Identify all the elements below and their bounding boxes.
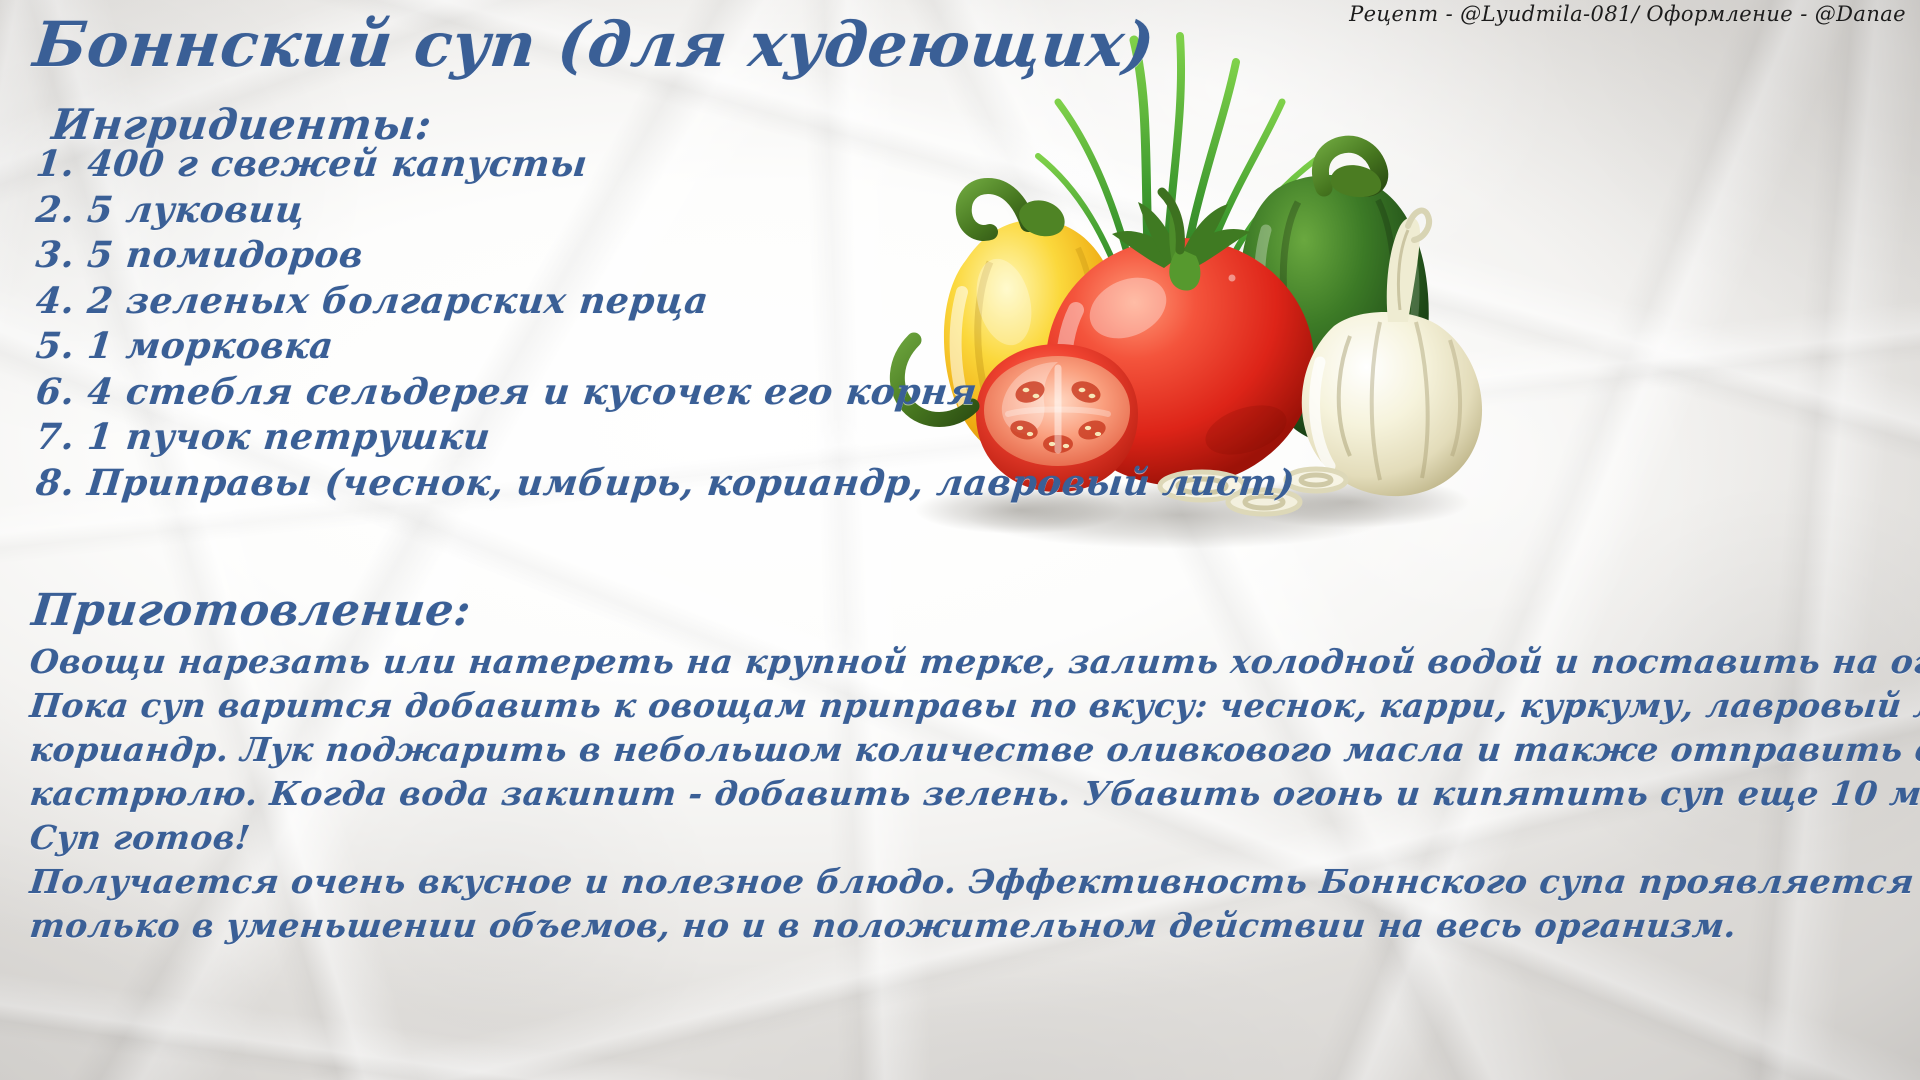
list-item: 5. 1 морковка [34, 324, 1298, 370]
ingredients-list: 1. 400 г свежей капусты 2. 5 луковиц 3. … [36, 142, 1295, 506]
list-item: 3. 5 помидоров [34, 233, 1298, 279]
preparation-line: Суп готов! [28, 816, 1920, 860]
preparation-line: Пока суп варится добавить к овощам припр… [28, 684, 1920, 728]
preparation-line: кастрюлю. Когда вода закипит - добавить … [28, 772, 1920, 816]
list-item: 8. Приправы (чеснок, имбирь, кориандр, л… [34, 461, 1298, 507]
preparation-heading: Приготовление: [29, 585, 473, 636]
preparation-line: Получается очень вкусное и полезное блюд… [28, 860, 1920, 904]
list-item: 4. 2 зеленых болгарских перца [34, 279, 1298, 325]
preparation-body: Овощи нарезать или натереть на крупной т… [30, 640, 1920, 948]
preparation-line: кориандр. Лук поджарить в небольшом коли… [28, 728, 1920, 772]
list-item: 7. 1 пучок петрушки [34, 415, 1298, 461]
preparation-line: только в уменьшении объемов, но и в поло… [28, 904, 1920, 948]
list-item: 1. 400 г свежей капусты [34, 142, 1298, 188]
preparation-line: Овощи нарезать или натереть на крупной т… [28, 640, 1920, 684]
list-item: 6. 4 стебля сельдерея и кусочек его корн… [34, 370, 1298, 416]
credit-line: Рецепт - @Lyudmila-081/ Оформление - @Da… [1349, 2, 1906, 26]
page-title: Боннский суп (для худеющих) [31, 12, 1158, 77]
list-item: 2. 5 луковиц [34, 188, 1298, 234]
